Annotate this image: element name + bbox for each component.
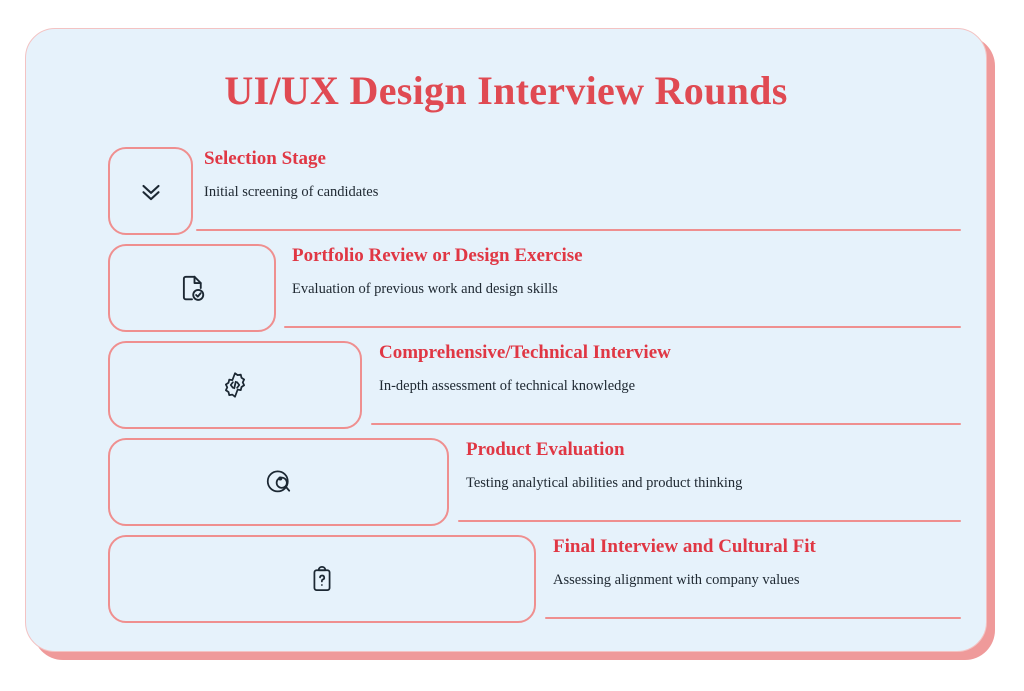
round-description: In-depth assessment of technical knowled… — [379, 377, 671, 395]
list-item[interactable]: Selection Stage Initial screening of can… — [26, 141, 986, 238]
round-description: Initial screening of candidates — [204, 183, 378, 201]
round-title: Selection Stage — [204, 147, 378, 171]
double-chevron-down-icon — [136, 176, 166, 206]
row-text-block: Portfolio Review or Design Exercise Eval… — [292, 244, 583, 298]
row-divider — [458, 520, 961, 522]
round-title: Product Evaluation — [466, 438, 742, 462]
row-text-block: Selection Stage Initial screening of can… — [204, 147, 378, 201]
infographic-canvas: UI/UX Design Interview Rounds Selection … — [0, 0, 1024, 691]
row-text-block: Final Interview and Cultural Fit Assessi… — [553, 535, 816, 589]
page-title: UI/UX Design Interview Rounds — [26, 67, 986, 114]
row-divider — [284, 326, 961, 328]
round-title: Portfolio Review or Design Exercise — [292, 244, 583, 268]
row-divider — [196, 229, 961, 231]
round-description: Evaluation of previous work and design s… — [292, 280, 583, 298]
round-title: Comprehensive/Technical Interview — [379, 341, 671, 365]
clipboard-question-icon — [308, 565, 336, 593]
infographic-card: UI/UX Design Interview Rounds Selection … — [25, 28, 987, 652]
list-item[interactable]: Portfolio Review or Design Exercise Eval… — [26, 238, 986, 335]
icon-box-selection-stage[interactable] — [108, 147, 193, 235]
icon-box-portfolio-review[interactable] — [108, 244, 276, 332]
document-check-icon — [177, 273, 207, 303]
magnifier-analysis-icon — [264, 467, 294, 497]
icon-box-product-evaluation[interactable] — [108, 438, 449, 526]
round-description: Testing analytical abilities and product… — [466, 474, 742, 492]
rounds-list: Selection Stage Initial screening of can… — [26, 141, 986, 626]
round-description: Assessing alignment with company values — [553, 571, 816, 589]
gear-code-icon — [220, 370, 250, 400]
icon-box-technical-interview[interactable] — [108, 341, 362, 429]
row-divider — [371, 423, 961, 425]
row-divider — [545, 617, 961, 619]
row-text-block: Product Evaluation Testing analytical ab… — [466, 438, 742, 492]
round-title: Final Interview and Cultural Fit — [553, 535, 816, 559]
list-item[interactable]: Final Interview and Cultural Fit Assessi… — [26, 529, 986, 626]
list-item[interactable]: Comprehensive/Technical Interview In-dep… — [26, 335, 986, 432]
icon-box-final-interview[interactable] — [108, 535, 536, 623]
list-item[interactable]: Product Evaluation Testing analytical ab… — [26, 432, 986, 529]
row-text-block: Comprehensive/Technical Interview In-dep… — [379, 341, 671, 395]
